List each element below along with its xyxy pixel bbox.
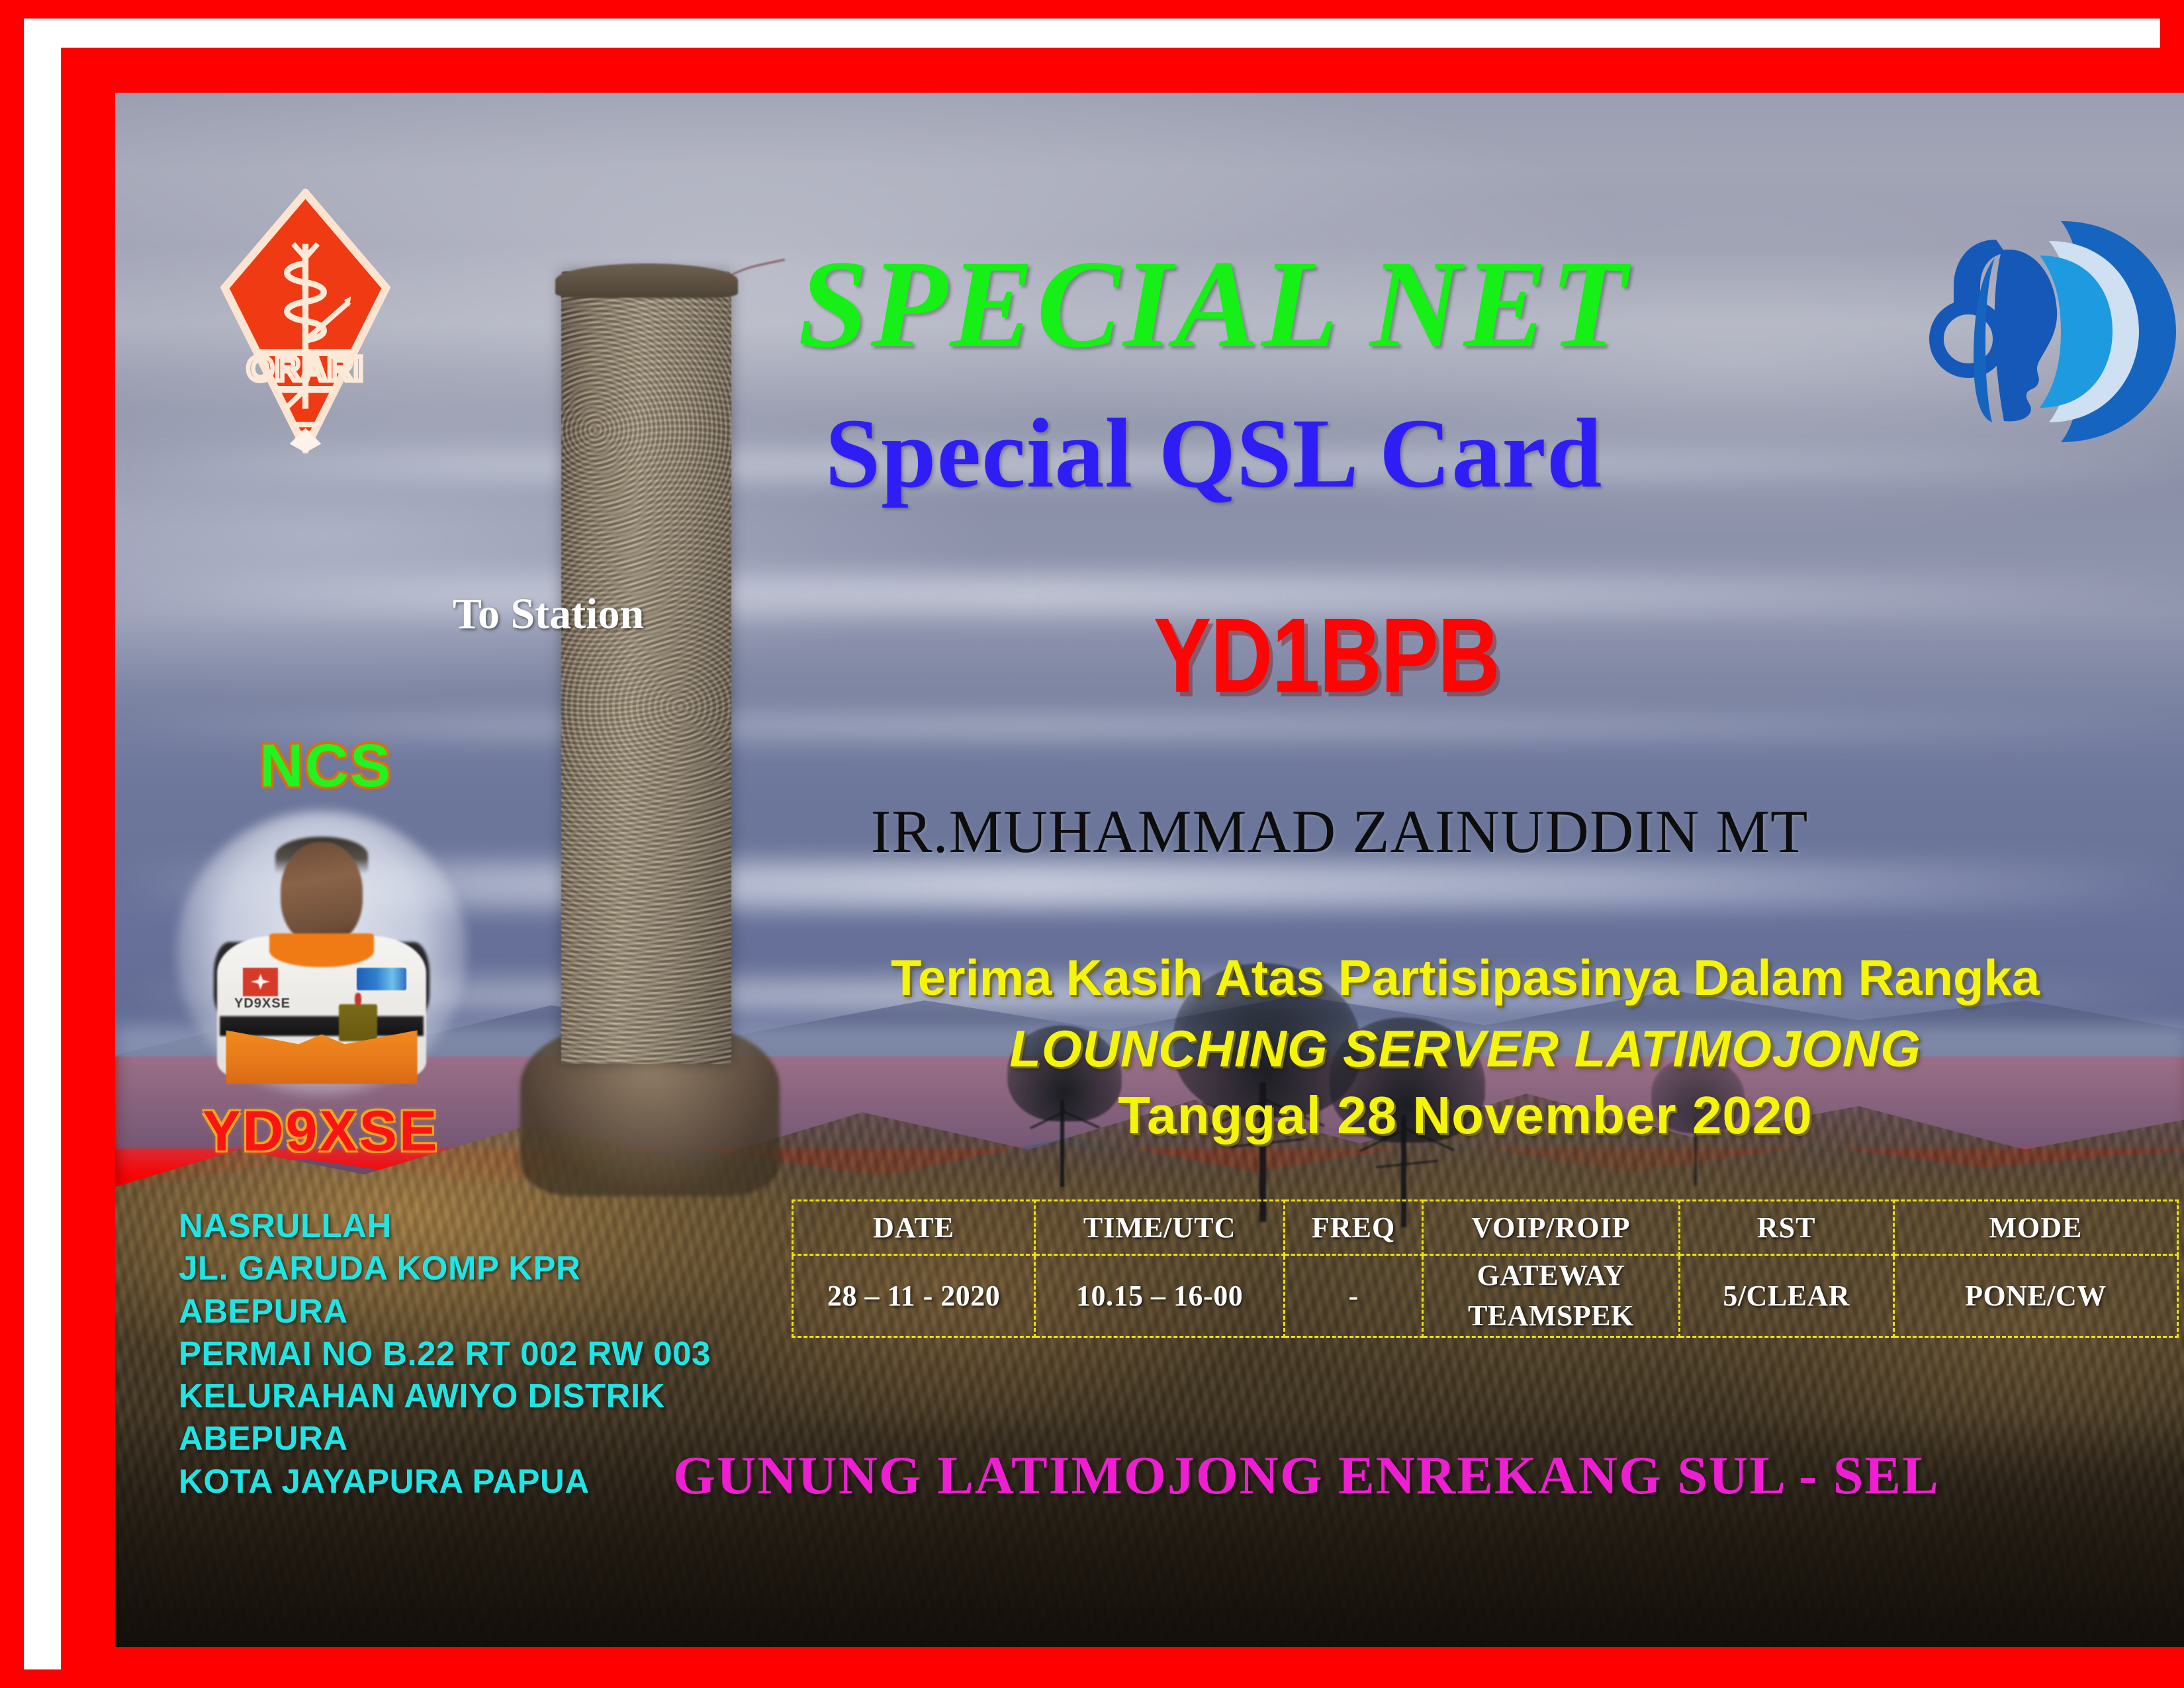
- stone-monument-pillar: [561, 271, 731, 1064]
- orari-logo: ORARI: [218, 189, 393, 453]
- photo-shirt-callsign: YD9XSE: [234, 996, 291, 1011]
- table-header-date: DATE: [793, 1201, 1035, 1255]
- recipient-callsign: YD1BPB: [930, 602, 1722, 708]
- qso-details-table: DATE TIME/UTC FREQ VOIP/ROIP RST MODE 28…: [792, 1199, 2179, 1338]
- ncs-operator-photo: YD9XSE: [176, 811, 467, 1096]
- radio-operator-headphones-icon: [1917, 199, 2181, 463]
- table-header-rst: RST: [1679, 1201, 1893, 1255]
- table-header-freq: FREQ: [1285, 1201, 1423, 1255]
- qsl-card-inner-red-frame: ORARI SP: [61, 48, 2171, 1677]
- address-line: KELURAHAN AWIYO DISTRIK: [179, 1375, 774, 1417]
- cell-date: 28 – 11 - 2020: [793, 1255, 1035, 1337]
- event-date: Tanggal 28 November 2020: [810, 1089, 2120, 1142]
- table-header-mode: MODE: [1893, 1201, 2177, 1255]
- photo-uniform-collar: [269, 933, 374, 968]
- photo-uniform-patch: [243, 968, 278, 996]
- qsl-card-outer-frame: ORARI SP: [0, 0, 2184, 1688]
- photo-id-card: [339, 1004, 377, 1041]
- cell-time: 10.15 – 16-00: [1035, 1255, 1285, 1337]
- to-station-label: To Station: [453, 589, 644, 639]
- table-header-time: TIME/UTC: [1035, 1201, 1285, 1255]
- table-header-row: DATE TIME/UTC FREQ VOIP/ROIP RST MODE: [793, 1201, 2178, 1255]
- address-line: NASRULLAH: [179, 1205, 774, 1247]
- operator-name: IR.MUHAMMAD ZAINUDDIN MT: [711, 801, 1968, 862]
- address-line: ABEPURA: [179, 1290, 774, 1333]
- table-row: 28 – 11 - 2020 10.15 – 16-00 - GATEWAY T…: [793, 1255, 2178, 1337]
- photo-uniform-sash: [226, 1030, 418, 1084]
- page-subtitle-qsl-card: Special QSL Card: [578, 404, 1849, 503]
- page-title-special-net: SPECIAL NET: [578, 242, 1849, 367]
- cell-voip: GATEWAY TEAMSPEK: [1423, 1255, 1679, 1337]
- photo-uniform-badge: [357, 968, 406, 990]
- cell-voip-line1: GATEWAY: [1477, 1259, 1625, 1291]
- address-line: JL. GARUDA KOMP KPR: [179, 1247, 774, 1289]
- location-name: GUNUNG LATIMOJONG ENREKANG SUL - SEL: [578, 1448, 2034, 1503]
- table-header-voip: VOIP/ROIP: [1423, 1201, 1679, 1255]
- address-line: PERMAI NO B.22 RT 002 RW 003: [179, 1333, 774, 1375]
- cloud-band: [115, 714, 2184, 739]
- cell-voip-line2: TEAMSPEK: [1468, 1299, 1634, 1332]
- thanks-message: Terima Kasih Atas Partisipasinya Dalam R…: [810, 953, 2120, 1004]
- orari-logo-text: ORARI: [247, 350, 364, 389]
- cell-mode: PONE/CW: [1893, 1255, 2177, 1337]
- ncs-role-label: NCS: [259, 731, 392, 801]
- event-name: LOUNCHING SERVER LATIMOJONG: [810, 1023, 2120, 1074]
- qsl-card-white-frame-gap: ORARI SP: [24, 19, 2160, 1669]
- ncs-callsign: YD9XSE: [203, 1099, 439, 1164]
- cell-rst: 5/CLEAR: [1679, 1255, 1893, 1337]
- photo-face: [281, 842, 362, 945]
- photo-uniform-belt: [220, 1016, 424, 1036]
- card-background-photograph: ORARI SP: [115, 93, 2184, 1647]
- cell-freq: -: [1285, 1255, 1423, 1337]
